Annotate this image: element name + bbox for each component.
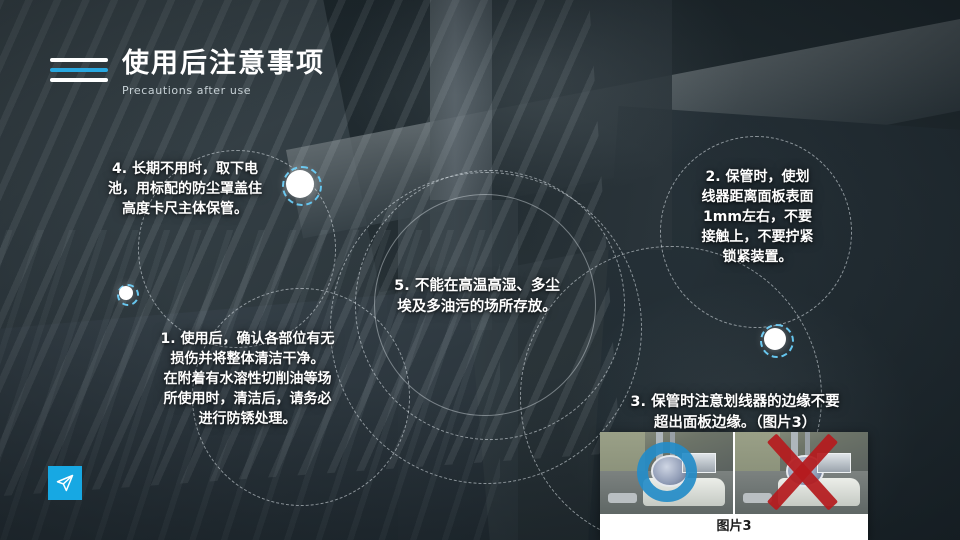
photo-gauge-foot xyxy=(608,493,637,503)
note-text-2: 2. 保管时，使划 线器距离面板表面 1mm左右，不要 接触上，不要拧紧 锁紧装… xyxy=(655,168,860,267)
blue-circle-correct-mark-icon xyxy=(637,442,697,502)
page-title: 使用后注意事项 xyxy=(122,48,325,79)
incorrect-example-photo xyxy=(733,432,868,514)
note-text-3: 3. 保管时注意划线器的边缘不要 超出面板边缘。（图片3） xyxy=(570,392,900,433)
page-subtitle: Precautions after use xyxy=(122,84,325,97)
slide-canvas: 使用后注意事项 Precautions after use 4. 长期不用时，取… xyxy=(0,0,960,540)
header-title-group: 使用后注意事项 Precautions after use xyxy=(122,48,325,97)
accent-dot-right-fill xyxy=(764,328,786,350)
photo-row xyxy=(600,432,868,514)
header-line-accent xyxy=(50,68,108,72)
correct-example-photo xyxy=(600,432,733,514)
accent-dot-left-fill xyxy=(119,286,133,300)
note-text-5: 5. 不能在高温高湿、多尘 埃及多油污的场所存放。 xyxy=(358,276,596,317)
note-text-1: 1. 使用后，确认各部位有无 损伤并将整体清洁干净。 在附着有水溶性切削油等场 … xyxy=(120,330,375,429)
header-decoration-lines xyxy=(50,58,108,88)
header-line-white-bottom xyxy=(50,78,108,82)
photo-caption: 图片3 xyxy=(600,514,868,540)
logo-badge[interactable] xyxy=(48,466,82,500)
red-cross-incorrect-mark-icon xyxy=(763,433,841,511)
slide-header: 使用后注意事项 Precautions after use xyxy=(50,48,325,97)
example-photo-panel: 图片3 xyxy=(600,432,868,540)
paper-plane-icon xyxy=(55,473,75,493)
note-text-4: 4. 长期不用时，取下电 池，用标配的防尘罩盖住 高度卡尺主体保管。 xyxy=(60,160,310,220)
header-line-white-top xyxy=(50,58,108,62)
